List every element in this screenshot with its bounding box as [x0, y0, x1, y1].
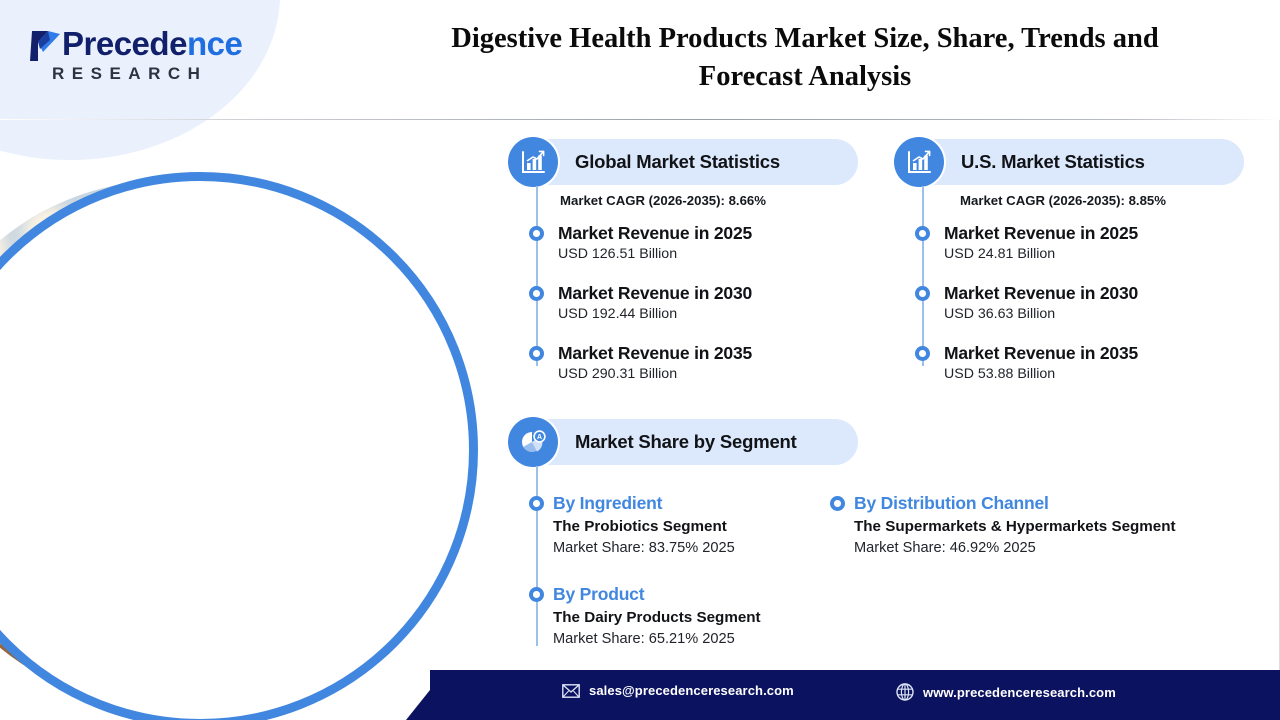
- us-panel-title: U.S. Market Statistics: [961, 151, 1145, 173]
- segment-bullet-ingredient: [529, 496, 544, 511]
- segment-timeline-line: [536, 466, 538, 646]
- us-bullet-2035: [915, 346, 930, 361]
- us-row-value-0: USD 24.81 Billion: [944, 246, 1055, 262]
- us-row-value-2: USD 53.88 Billion: [944, 366, 1055, 382]
- envelope-icon: [562, 684, 580, 698]
- svg-text:A: A: [537, 434, 542, 441]
- segment-title-0: By Ingredient: [553, 493, 662, 514]
- segment-name-0: The Probiotics Segment: [553, 518, 727, 535]
- segment-name-2: The Dairy Products Segment: [553, 609, 761, 626]
- footer-website[interactable]: www.precedenceresearch.com: [896, 683, 1116, 701]
- bar-chart-growth-icon: [894, 137, 944, 187]
- header: Precedence RESEARCH Digestive Health Pro…: [0, 0, 1280, 120]
- precedence-arrow-logo-icon: [26, 26, 66, 66]
- global-cagr: Market CAGR (2026-2035): 8.66%: [560, 193, 766, 208]
- global-panel-title: Global Market Statistics: [575, 151, 780, 173]
- global-row-label-0: Market Revenue in 2025: [558, 223, 752, 244]
- segment-share-1: Market Share: 46.92% 2025: [854, 540, 1036, 556]
- segment-bullet-distribution: [830, 496, 845, 511]
- globe-icon: [896, 683, 914, 701]
- footer-bar: sales@precedenceresearch.com www.precede…: [430, 670, 1280, 720]
- segment-share-0: Market Share: 83.75% 2025: [553, 540, 735, 556]
- us-cagr: Market CAGR (2026-2035): 8.85%: [960, 193, 1166, 208]
- segment-bullet-product: [529, 587, 544, 602]
- us-row-value-1: USD 36.63 Billion: [944, 306, 1055, 322]
- us-market-statistics-header: U.S. Market Statistics: [896, 139, 1244, 185]
- footer-email-text: sales@precedenceresearch.com: [589, 683, 794, 698]
- global-market-statistics-header: Global Market Statistics: [510, 139, 858, 185]
- segment-title-2: By Product: [553, 584, 644, 605]
- us-row-label-1: Market Revenue in 2030: [944, 283, 1138, 304]
- global-bullet-2025: [529, 226, 544, 241]
- global-row-value-2: USD 290.31 Billion: [558, 366, 677, 382]
- market-share-by-segment-header: A Market Share by Segment: [510, 419, 858, 465]
- us-row-label-0: Market Revenue in 2025: [944, 223, 1138, 244]
- us-timeline-line: [922, 186, 924, 366]
- brand-wordmark: Precedence: [62, 24, 242, 64]
- brand-subtitle: RESEARCH: [52, 64, 207, 84]
- global-row-label-2: Market Revenue in 2035: [558, 343, 752, 364]
- footer-email[interactable]: sales@precedenceresearch.com: [562, 683, 794, 698]
- segment-name-1: The Supermarkets & Hypermarkets Segment: [854, 518, 1176, 535]
- global-bullet-2035: [529, 346, 544, 361]
- bar-chart-growth-icon: [508, 137, 558, 187]
- global-row-value-0: USD 126.51 Billion: [558, 246, 677, 262]
- global-bullet-2030: [529, 286, 544, 301]
- brand-wordmark-text: Precedence: [62, 25, 242, 62]
- header-divider: [0, 119, 1280, 120]
- segment-title-1: By Distribution Channel: [854, 493, 1049, 514]
- global-row-label-1: Market Revenue in 2030: [558, 283, 752, 304]
- footer-website-text: www.precedenceresearch.com: [923, 685, 1116, 700]
- us-row-label-2: Market Revenue in 2035: [944, 343, 1138, 364]
- segment-panel-title: Market Share by Segment: [575, 431, 797, 453]
- us-bullet-2030: [915, 286, 930, 301]
- global-row-value-1: USD 192.44 Billion: [558, 306, 677, 322]
- pie-chart-icon: A: [508, 417, 558, 467]
- page-title: Digestive Health Products Market Size, S…: [400, 20, 1210, 96]
- segment-share-2: Market Share: 65.21% 2025: [553, 631, 735, 647]
- brand-logo[interactable]: Precedence RESEARCH: [26, 24, 296, 86]
- infographic-canvas: Precedence RESEARCH Digestive Health Pro…: [0, 0, 1280, 720]
- global-timeline-line: [536, 186, 538, 366]
- us-bullet-2025: [915, 226, 930, 241]
